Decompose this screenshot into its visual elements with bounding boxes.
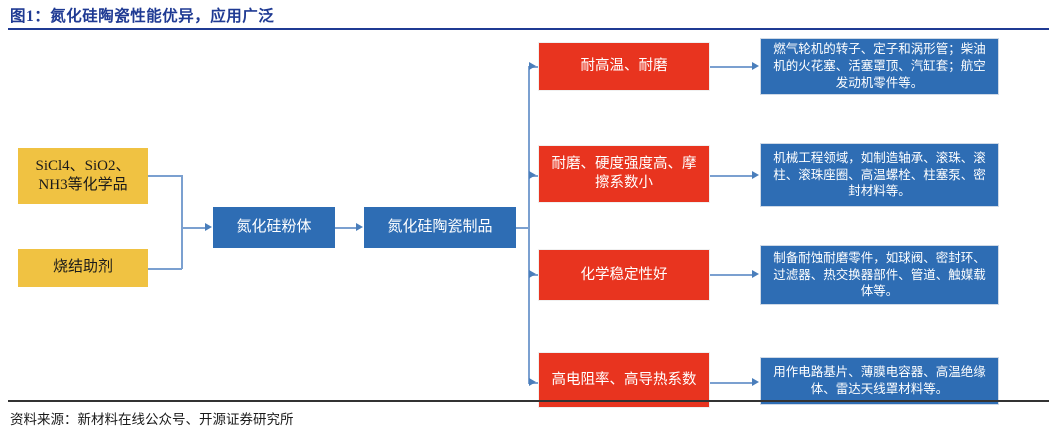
- process-node-ceramic-product-label: 氮化硅陶瓷制品: [387, 218, 492, 237]
- arrow-input-to-powder-icon: [205, 223, 212, 231]
- arrow-powder-to-product-icon: [356, 223, 363, 231]
- title-divider: [8, 28, 1049, 30]
- connector-powder-to-product: [335, 227, 357, 229]
- arrow-application-4-icon: [752, 378, 759, 386]
- connector-input-trunk: [181, 175, 183, 269]
- arrow-branch-1-icon: [529, 62, 536, 70]
- arrow-branch-2-icon: [529, 171, 536, 179]
- application-node-2[interactable]: 机械工程领域，如制造轴承、滚珠、滚柱、滚珠座圈、高温螺栓、柱塞泵、密封材料等。: [760, 143, 999, 207]
- input-node-chemicals-label: SiCl4、SiO2、NH3等化学品: [24, 157, 142, 195]
- connector-property-trunk: [528, 66, 530, 383]
- property-node-2[interactable]: 耐磨、硬度强度高、摩擦系数小: [538, 145, 710, 203]
- property-node-4-label: 高电阻率、高导热系数: [552, 371, 697, 390]
- arrow-application-3-icon: [752, 270, 759, 278]
- process-node-silicon-nitride-powder[interactable]: 氮化硅粉体: [213, 207, 335, 248]
- input-node-sintering-aid-label: 烧结助剂: [53, 258, 113, 277]
- process-node-powder-label: 氮化硅粉体: [236, 218, 311, 237]
- connector-property-1-to-application: [710, 66, 755, 68]
- arrow-application-2-icon: [752, 171, 759, 179]
- arrow-application-1-icon: [752, 62, 759, 70]
- property-node-1[interactable]: 耐高温、耐磨: [538, 42, 710, 91]
- application-node-4-label: 用作电路基片、薄膜电容器、高温绝缘体、雷达天线罩材料等。: [768, 364, 991, 398]
- property-node-3[interactable]: 化学稳定性好: [538, 249, 710, 301]
- connector-sintering-out: [148, 268, 182, 270]
- application-node-1-label: 燃气轮机的转子、定子和涡形管；柴油机的火花塞、活塞罩顶、汽缸套；航空发动机零件等…: [768, 41, 991, 92]
- connector-property-2-to-application: [710, 175, 755, 177]
- figure-title: 图1：氮化硅陶瓷性能优异，应用广泛: [10, 4, 274, 26]
- application-node-2-label: 机械工程领域，如制造轴承、滚珠、滚柱、滚珠座圈、高温螺栓、柱塞泵、密封材料等。: [768, 150, 991, 201]
- property-node-3-label: 化学稳定性好: [581, 266, 668, 285]
- figure-container: 图1：氮化硅陶瓷性能优异，应用广泛 SiCl4、SiO2、NH3等化学品 烧结助…: [0, 0, 1057, 436]
- connector-property-4-to-application: [710, 382, 755, 384]
- property-node-1-label: 耐高温、耐磨: [581, 57, 668, 76]
- arrow-branch-4-icon: [529, 378, 536, 386]
- input-node-sintering-aid[interactable]: 烧结助剂: [18, 249, 148, 287]
- application-node-4[interactable]: 用作电路基片、薄膜电容器、高温绝缘体、雷达天线罩材料等。: [760, 357, 999, 405]
- connector-chemicals-out: [148, 175, 182, 177]
- application-node-1[interactable]: 燃气轮机的转子、定子和涡形管；柴油机的火花塞、活塞罩顶、汽缸套；航空发动机零件等…: [760, 38, 999, 95]
- property-node-2-label: 耐磨、硬度强度高、摩擦系数小: [545, 155, 703, 192]
- source-divider: [8, 400, 1049, 402]
- application-node-3[interactable]: 制备耐蚀耐磨零件，如球阀、密封环、过滤器、热交换器部件、管道、触媒载体等。: [760, 245, 999, 305]
- figure-source: 资料来源：新材料在线公众号、开源证券研究所: [10, 408, 294, 428]
- application-node-3-label: 制备耐蚀耐磨零件，如球阀、密封环、过滤器、热交换器部件、管道、触媒载体等。: [768, 250, 991, 301]
- arrow-branch-3-icon: [529, 270, 536, 278]
- process-node-ceramic-product[interactable]: 氮化硅陶瓷制品: [364, 207, 516, 248]
- connector-input-to-powder: [181, 227, 206, 229]
- connector-property-3-to-application: [710, 274, 755, 276]
- input-node-chemicals[interactable]: SiCl4、SiO2、NH3等化学品: [18, 148, 148, 204]
